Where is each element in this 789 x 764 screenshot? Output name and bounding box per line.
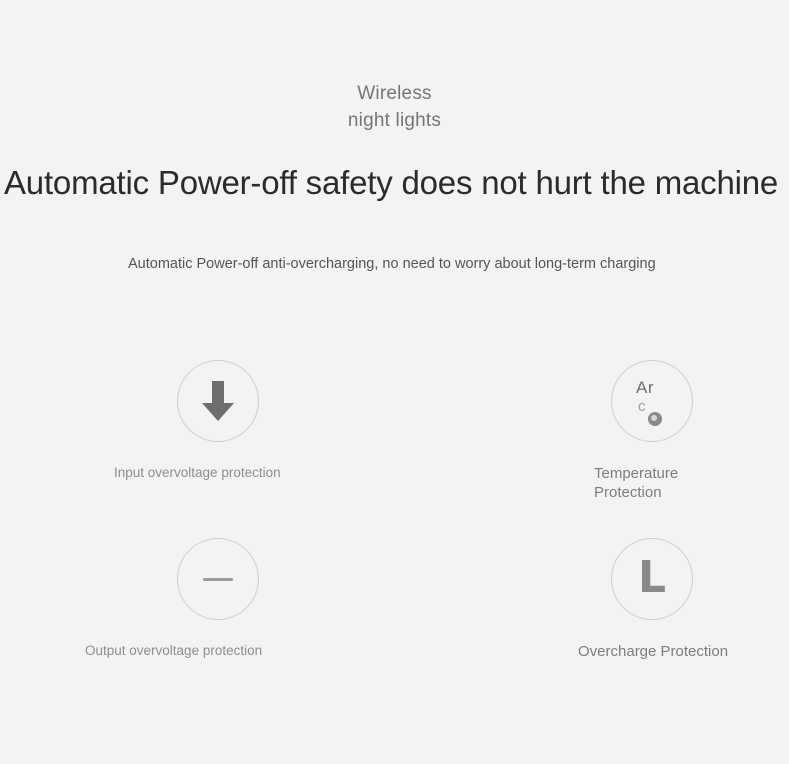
feature-item-overcharge: L Overcharge Protection xyxy=(263,538,526,716)
feature-item-output-overvoltage: Output overvoltage protection xyxy=(0,538,263,716)
feature-grid: Input overvoltage protection Ar c Temper… xyxy=(0,360,789,716)
feature-icon-circle xyxy=(177,538,259,620)
page-subheadline: Automatic Power-off anti-overcharging, n… xyxy=(128,254,788,274)
feature-row-1: Input overvoltage protection Ar c Temper… xyxy=(0,360,789,538)
feature-icon-circle xyxy=(177,360,259,442)
minus-icon xyxy=(203,578,233,581)
kicker-line-2: night lights xyxy=(0,107,789,134)
kicker-line-1: Wireless xyxy=(0,80,789,107)
product-feature-page: Wireless night lights Automatic Power-of… xyxy=(0,0,789,764)
arrow-down-icon xyxy=(198,379,238,423)
feature-item-output-overcurrent: + Output overcurrent protection xyxy=(526,360,789,538)
kicker-title: Wireless night lights xyxy=(0,80,789,134)
feature-item-temperature: Ar c Temperature Protection xyxy=(263,360,526,538)
feature-row-2: Output overvoltage protection L Overchar… xyxy=(0,538,789,716)
feature-item-input-overvoltage: Input overvoltage protection xyxy=(0,360,263,538)
page-headline: Automatic Power-off safety does not hurt… xyxy=(4,162,784,203)
feature-item-short-circuit: Output short circuit protection xyxy=(526,538,789,716)
